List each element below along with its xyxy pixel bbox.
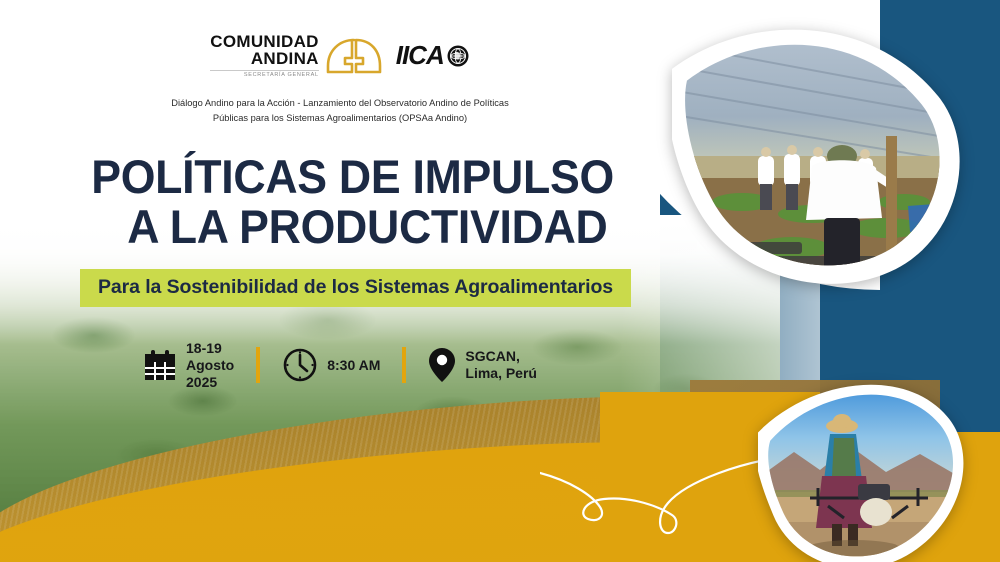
poster-content: COMUNIDAD ANDINA SECRETARÍA GENERAL IICA bbox=[0, 0, 680, 391]
photo-frame-bottom-right bbox=[758, 372, 978, 562]
eyebrow-line-2: Públicas para los Sistemas Agroalimentar… bbox=[120, 111, 560, 126]
logo-row: COMUNIDAD ANDINA SECRETARÍA GENERAL IICA bbox=[0, 0, 680, 79]
iica-logo: IICA bbox=[396, 40, 470, 71]
event-time-text: 8:30 AM bbox=[327, 357, 380, 374]
subtitle-banner: Para la Sostenibilidad de los Sistemas A… bbox=[80, 269, 631, 307]
ca-logo-line1: COMUNIDAD bbox=[210, 33, 318, 50]
detail-divider-2 bbox=[402, 347, 406, 383]
event-subtitle-eyebrow: Diálogo Andino para la Acción - Lanzamie… bbox=[120, 96, 560, 127]
event-time-item: 8:30 AM bbox=[282, 347, 380, 383]
comunidad-andina-logo: COMUNIDAD ANDINA SECRETARÍA GENERAL bbox=[210, 33, 381, 79]
calendar-icon bbox=[143, 348, 177, 382]
title-line-2: A LA PRODUCTIVIDAD bbox=[91, 202, 646, 252]
event-location-text: SGCAN, Lima, Perú bbox=[465, 348, 537, 382]
eyebrow-line-1: Diálogo Andino para la Acción - Lanzamie… bbox=[120, 96, 560, 111]
map-pin-icon bbox=[428, 347, 456, 383]
andean-arch-mark-icon bbox=[326, 38, 382, 74]
event-date-text: 18-19 Agosto 2025 bbox=[186, 340, 234, 391]
photo-drone-body bbox=[858, 484, 890, 500]
event-details-row: 18-19 Agosto 2025 8:30 AM bbox=[143, 340, 680, 391]
event-date-item: 18-19 Agosto 2025 bbox=[143, 340, 234, 391]
ca-logo-line3: SECRETARÍA GENERAL bbox=[210, 70, 318, 79]
globe-mark-icon bbox=[446, 44, 470, 68]
photo-drone-tank bbox=[860, 498, 892, 526]
title-line-1: POLÍTICAS DE IMPULSO bbox=[91, 152, 646, 202]
detail-divider-1 bbox=[256, 347, 260, 383]
event-location-item: SGCAN, Lima, Perú bbox=[428, 347, 537, 383]
photo-frame-top-right bbox=[672, 6, 972, 296]
subtitle-banner-text: Para la Sostenibilidad de los Sistemas A… bbox=[98, 276, 613, 298]
poster-title: POLÍTICAS DE IMPULSO A LA PRODUCTIVIDAD bbox=[0, 152, 646, 252]
event-poster: COMUNIDAD ANDINA SECRETARÍA GENERAL IICA bbox=[0, 0, 1000, 562]
clock-icon bbox=[282, 347, 318, 383]
ca-logo-line2: ANDINA bbox=[210, 50, 318, 67]
iica-logo-text: IICA bbox=[396, 40, 444, 71]
